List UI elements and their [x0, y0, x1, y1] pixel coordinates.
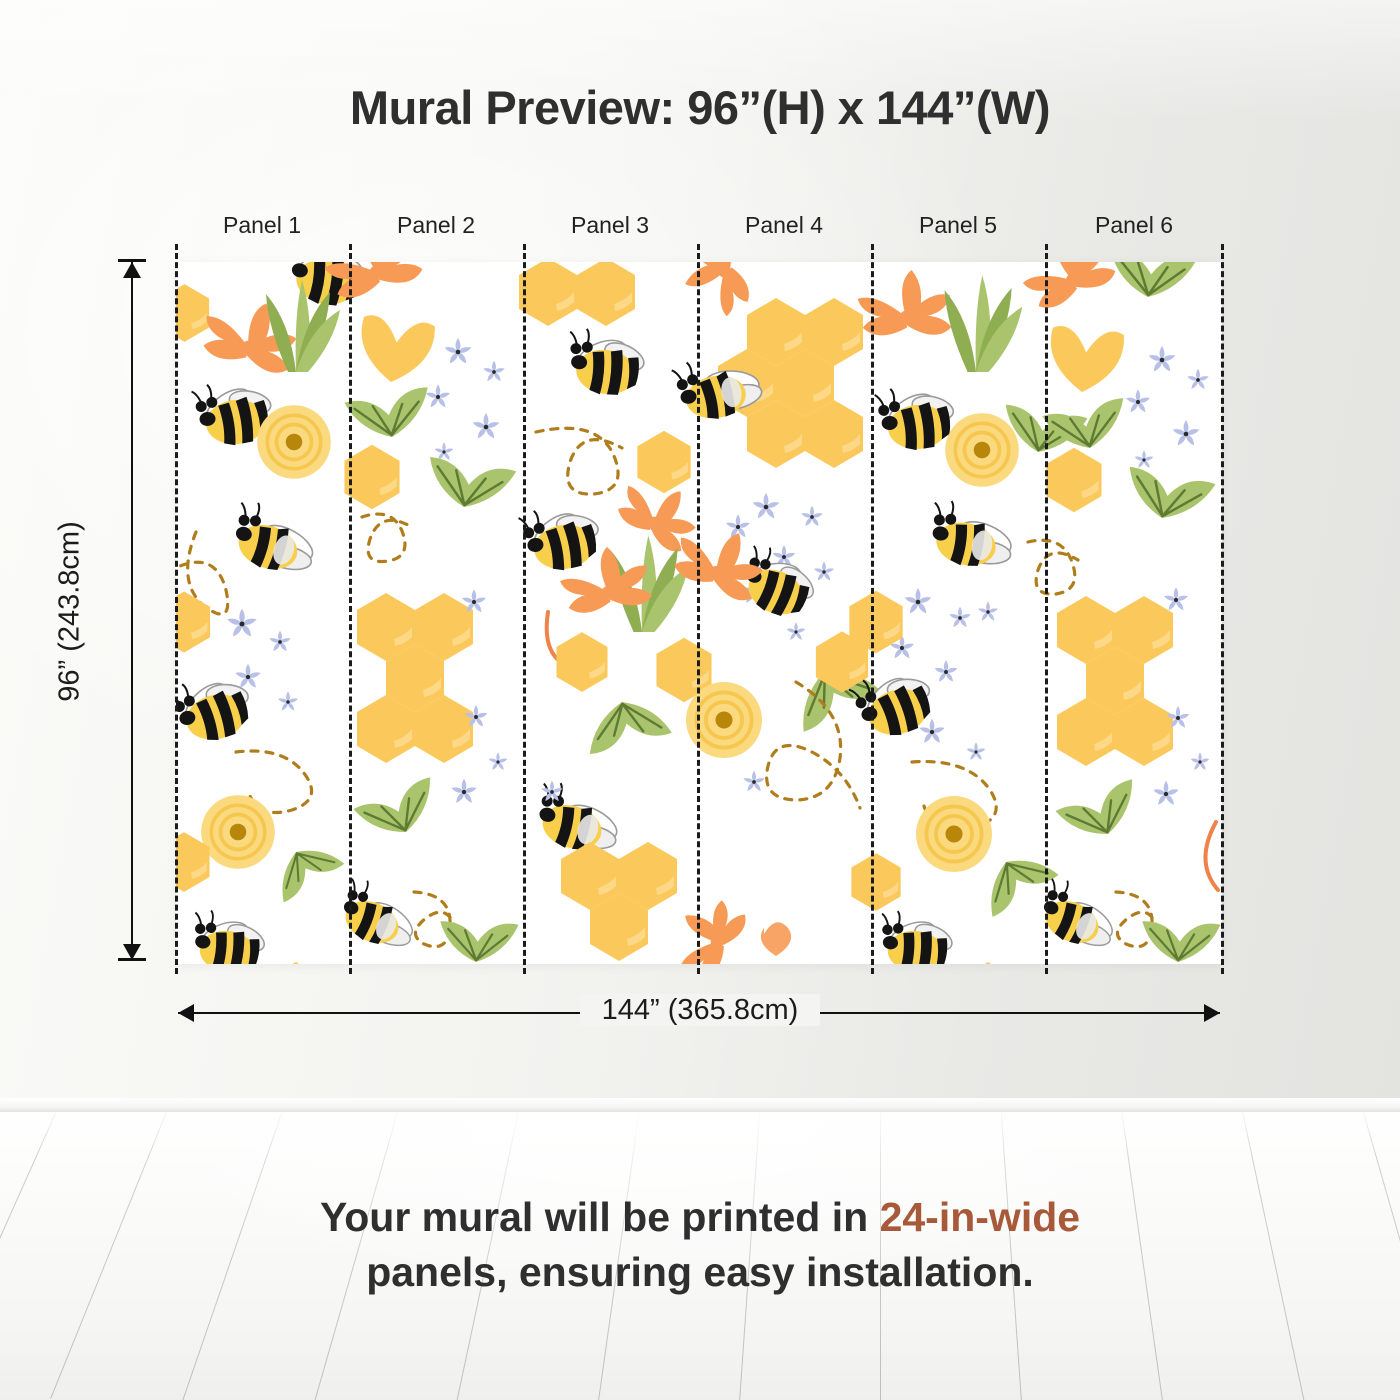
panel-divider-2 — [523, 244, 526, 974]
panel-label-2: Panel 2 — [349, 212, 523, 239]
width-dimension-label: 144” (365.8cm) — [580, 994, 821, 1026]
panel-label-3: Panel 3 — [523, 212, 697, 239]
panel-divider-1 — [349, 244, 352, 974]
caption-line-1: Your mural will be printed in 24-in-wide — [0, 1190, 1400, 1245]
height-tick-bottom — [118, 958, 146, 961]
height-dimension-arrow — [131, 262, 133, 960]
footer-caption: Your mural will be printed in 24-in-wide… — [0, 1190, 1400, 1301]
panel-divider-3 — [697, 244, 700, 974]
caption-line-2: panels, ensuring easy installation. — [0, 1245, 1400, 1300]
panel-label-5: Panel 5 — [871, 212, 1045, 239]
panel-divider-4 — [871, 244, 874, 974]
panel-label-4: Panel 4 — [697, 212, 871, 239]
width-dimension-label-wrap: 144” (365.8cm) — [0, 994, 1400, 1027]
panel-label-6: Panel 6 — [1047, 212, 1221, 239]
panel-label-1: Panel 1 — [175, 212, 349, 239]
panel-divider-5 — [1045, 244, 1048, 974]
panel-divider-6 — [1221, 244, 1224, 974]
panel-label-row: Panel 1 Panel 2 Panel 3 Panel 4 Panel 5 … — [175, 212, 1222, 246]
caption-prefix: Your mural will be printed in — [320, 1194, 880, 1240]
mural-preview-scene: Mural Preview: 96”(H) x 144”(W) Panel 1 … — [0, 0, 1400, 1400]
height-dimension-label: 96” (243.8cm) — [54, 482, 87, 742]
caption-accent: 24-in-wide — [880, 1194, 1080, 1240]
panel-divider-0 — [175, 244, 178, 974]
page-title: Mural Preview: 96”(H) x 144”(W) — [0, 80, 1400, 135]
